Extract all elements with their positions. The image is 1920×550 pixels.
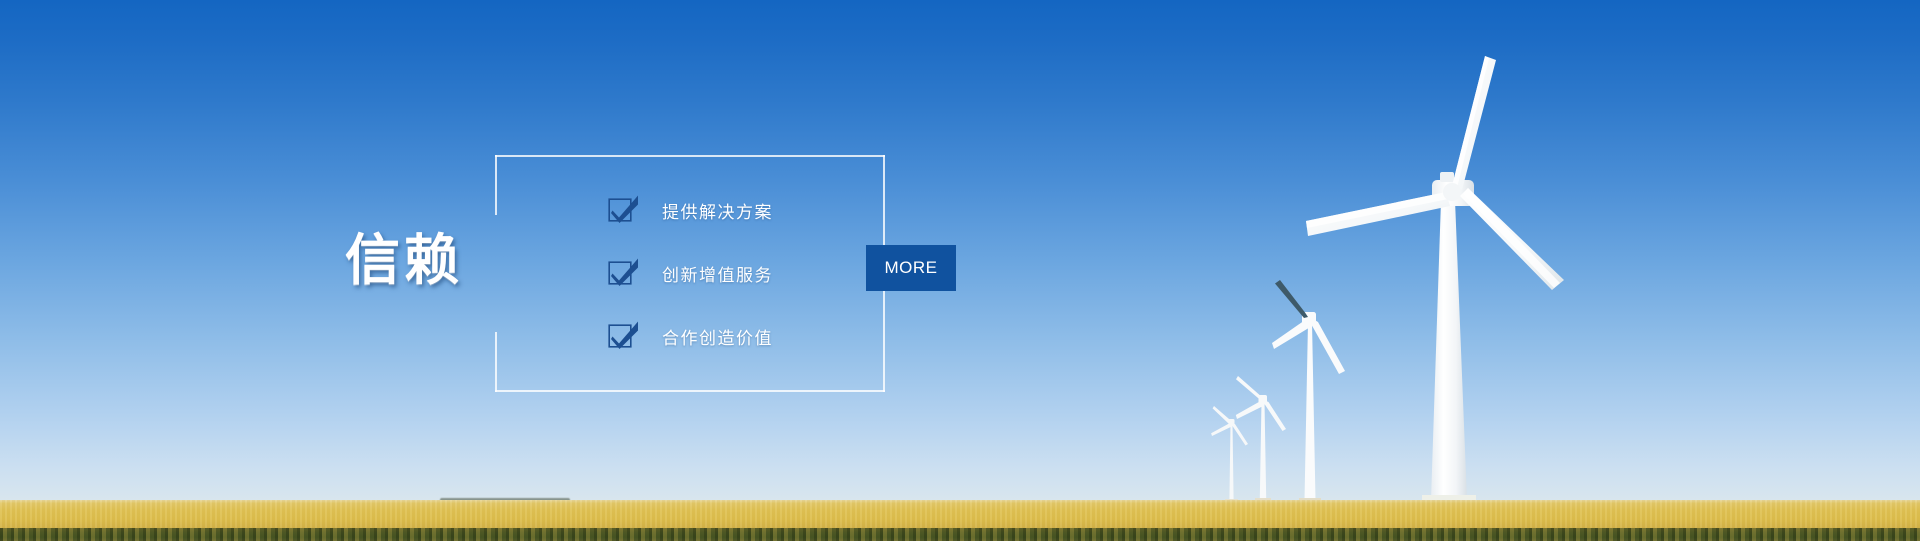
wind-turbine-large [1300,40,1640,520]
checkbox-checked-icon [608,259,636,287]
checkbox-checked-icon [608,322,636,350]
list-item: 创新增值服务 [608,259,773,287]
frame-edge-left-lower [495,332,497,392]
list-item-label: 提供解决方案 [662,198,773,223]
list-item-label: 创新增值服务 [662,261,773,286]
page-title: 信赖 [345,233,463,288]
list-item: 合作创造价值 [608,322,773,350]
list-item-label: 合作创造价值 [662,324,773,349]
grass-strip [0,528,1920,541]
frame-edge-left-upper [495,155,497,215]
checkbox-checked-icon [608,196,636,224]
list-item: 提供解决方案 [608,196,773,224]
hero-banner: 信赖 提供解决方案 创新增值服务 [0,0,1920,550]
feature-list: 提供解决方案 创新增值服务 合作创造价值 [608,196,773,350]
bottom-white-edge [0,541,1920,550]
frame-edge-top [495,155,885,157]
more-button[interactable]: MORE [866,245,956,291]
frame-edge-bottom [495,390,885,392]
